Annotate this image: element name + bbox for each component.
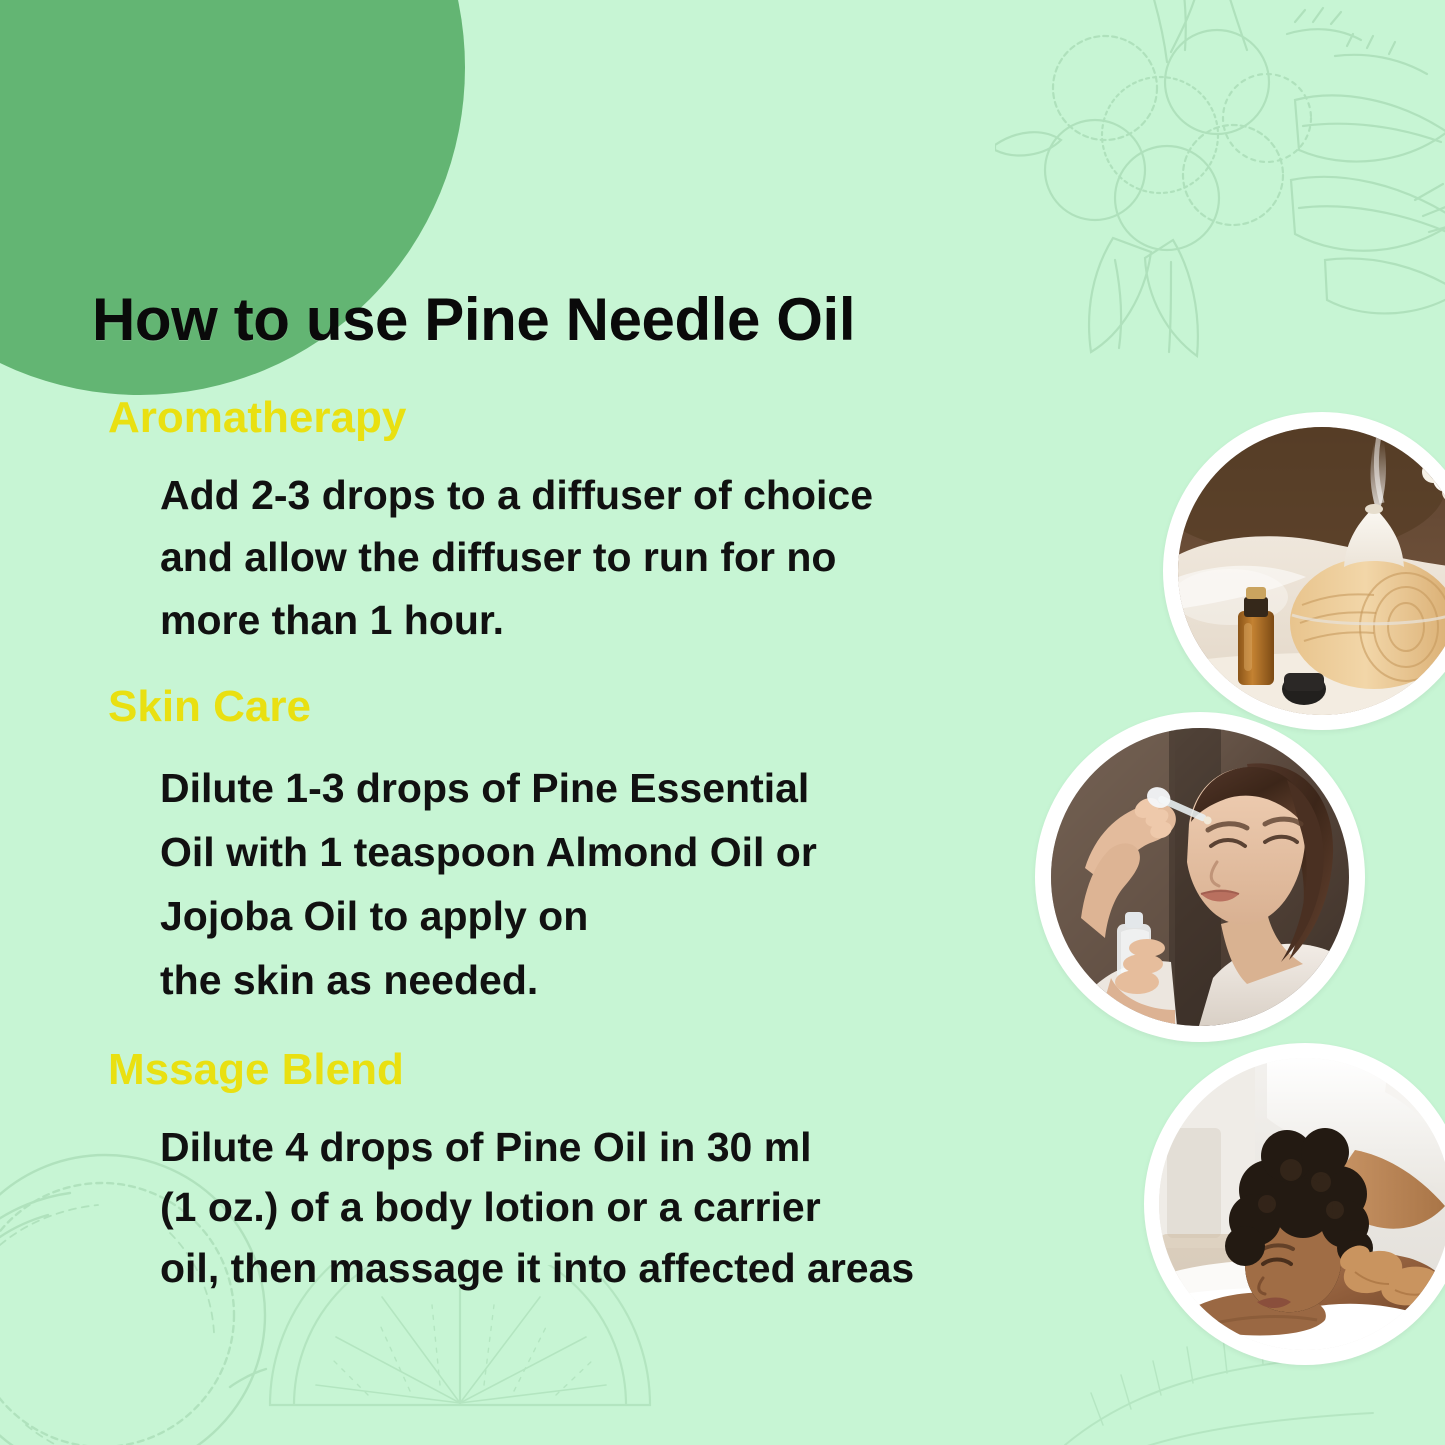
body-line: more than 1 hour. — [160, 589, 1040, 651]
body-line: oil, then massage it into affected areas — [160, 1238, 1040, 1298]
section-body-skin-care: Dilute 1-3 drops of Pine Essential Oil w… — [160, 757, 1040, 1013]
body-line: the skin as needed. — [160, 949, 1040, 1013]
section-body-massage-blend: Dilute 4 drops of Pine Oil in 30 ml (1 o… — [160, 1117, 1040, 1298]
photo-image — [1051, 728, 1349, 1026]
body-line: Add 2-3 drops to a diffuser of choice — [160, 464, 1040, 526]
body-line: and allow the diffuser to run for no — [160, 526, 1040, 588]
body-line: (1 oz.) of a body lotion or a carrier — [160, 1177, 1040, 1237]
section-heading-aromatherapy: Aromatherapy — [108, 396, 406, 440]
section-heading-skin-care: Skin Care — [108, 685, 311, 729]
body-line: Jojoba Oil to apply on — [160, 885, 1040, 949]
body-line: Dilute 4 drops of Pine Oil in 30 ml — [160, 1117, 1040, 1177]
section-body-aromatherapy: Add 2-3 drops to a diffuser of choice an… — [160, 464, 1040, 651]
poster-root: How to use Pine Needle Oil Aromatherapy … — [0, 0, 1445, 1445]
botanical-branch-watermark-icon — [995, 0, 1445, 400]
skin-care-serum-photo — [1035, 712, 1365, 1042]
page-title: How to use Pine Needle Oil — [92, 288, 855, 353]
massage-photo — [1144, 1043, 1445, 1365]
photo-image — [1178, 427, 1445, 715]
body-line: Oil with 1 teaspoon Almond Oil or — [160, 821, 1040, 885]
section-heading-massage-blend: Mssage Blend — [108, 1048, 404, 1092]
body-line: Dilute 1-3 drops of Pine Essential — [160, 757, 1040, 821]
aromatherapy-diffuser-photo — [1163, 412, 1445, 730]
photo-image — [1159, 1058, 1445, 1350]
